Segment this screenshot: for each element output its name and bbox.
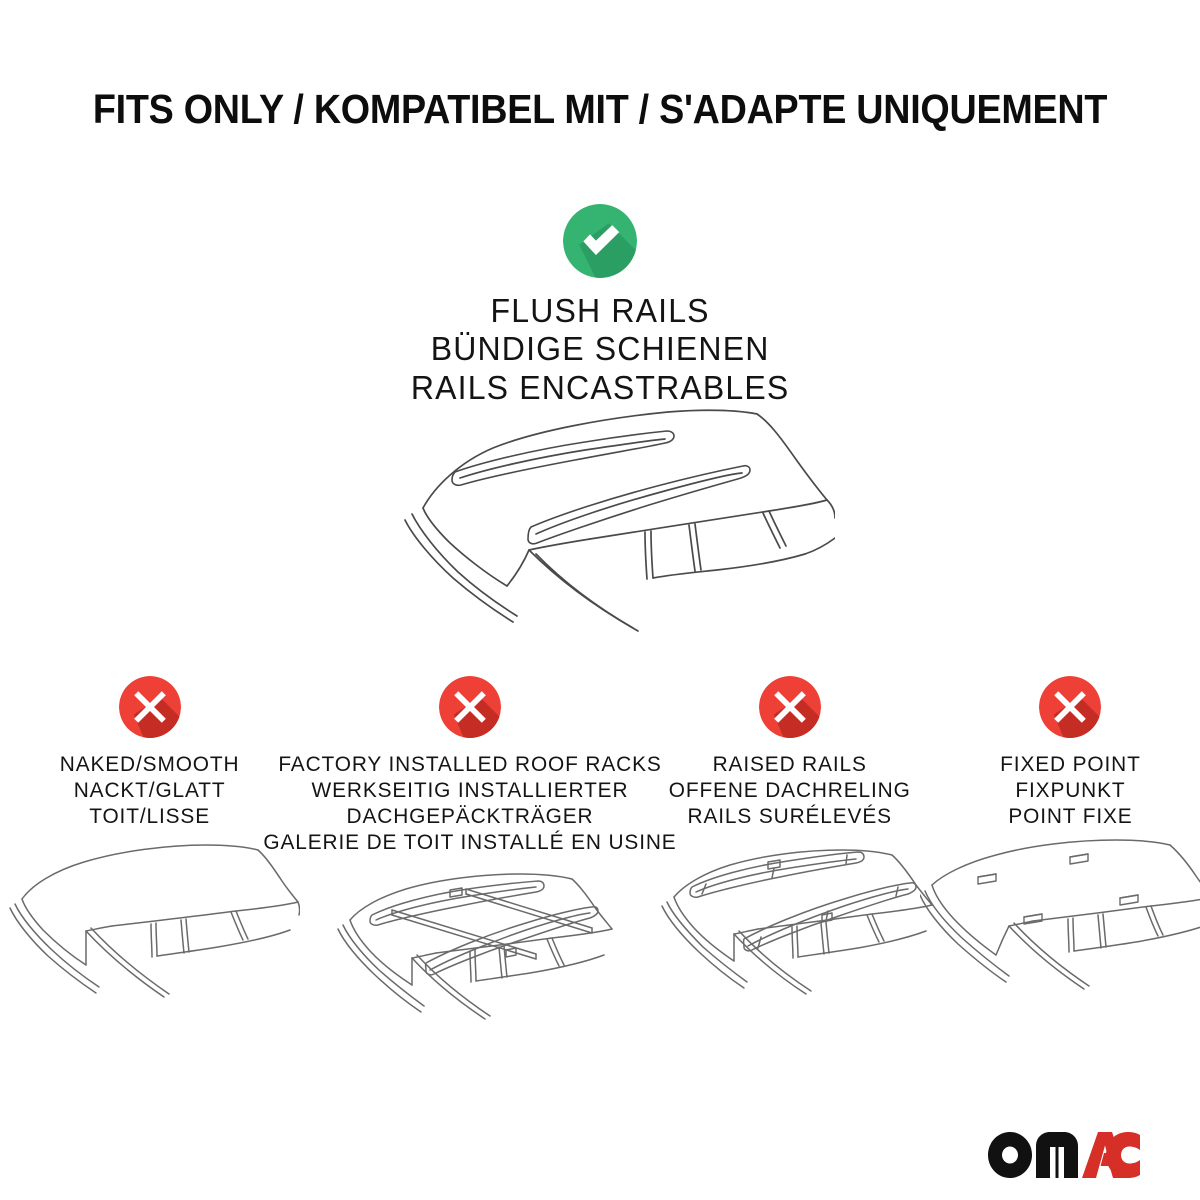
caption-line-fr: TOIT/LISSE xyxy=(60,803,240,829)
compatible-caption: FLUSH RAILS BÜNDIGE SCHIENEN RAILS ENCAS… xyxy=(411,292,790,407)
page-title: FITS ONLY / KOMPATIBEL MIT / S'ADAPTE UN… xyxy=(48,86,1152,133)
incompatible-item-raised-rails: RAISED RAILS OFFENE DACHRELING RAILS SUR… xyxy=(640,676,940,1039)
cross-circle-icon xyxy=(759,676,821,738)
car-roof-with-raised-rails-illustration xyxy=(640,839,940,1039)
car-roof-with-crossbars-illustration xyxy=(320,865,620,1065)
incompatible-item-fixed-point: FIXED POINT FIXPUNKT POINT FIXE xyxy=(940,676,1200,1039)
car-roof-bare-illustration xyxy=(0,839,300,1039)
caption-line-en: FIXED POINT xyxy=(1000,751,1141,777)
cross-circle-icon xyxy=(119,676,181,738)
incompatible-caption: NAKED/SMOOTH NACKT/GLATT TOIT/LISSE xyxy=(60,751,240,829)
incompatible-caption: FIXED POINT FIXPUNKT POINT FIXE xyxy=(1000,751,1141,829)
omac-logo xyxy=(988,1132,1140,1178)
car-roof-with-fixed-points-illustration xyxy=(920,839,1200,1039)
logo-letter-o xyxy=(988,1132,1032,1178)
check-circle-icon xyxy=(563,204,637,278)
incompatible-caption: FACTORY INSTALLED ROOF RACKS WERKSEITIG … xyxy=(263,751,676,855)
incompatible-caption: RAISED RAILS OFFENE DACHRELING RAILS SUR… xyxy=(669,751,911,829)
caption-line-de: OFFENE DACHRELING xyxy=(669,777,911,803)
cross-circle-icon xyxy=(1039,676,1101,738)
compatible-section: FLUSH RAILS BÜNDIGE SCHIENEN RAILS ENCAS… xyxy=(0,204,1200,407)
caption-line-en: NAKED/SMOOTH xyxy=(60,751,240,777)
incompatible-section: NAKED/SMOOTH NACKT/GLATT TOIT/LISSE xyxy=(0,676,1200,1065)
caption-line-de-1: WERKSEITIG INSTALLIERTER xyxy=(263,777,676,803)
incompatible-item-factory-installed-roof-racks: FACTORY INSTALLED ROOF RACKS WERKSEITIG … xyxy=(300,676,640,1065)
caption-line-en: RAISED RAILS xyxy=(669,751,911,777)
caption-line-de: FIXPUNKT xyxy=(1000,777,1141,803)
incompatible-item-naked-smooth: NAKED/SMOOTH NACKT/GLATT TOIT/LISSE xyxy=(0,676,300,1039)
compatible-line-en: FLUSH RAILS xyxy=(411,292,790,330)
cross-circle-icon xyxy=(439,676,501,738)
caption-line-de-2: DACHGEPÄCKTRÄGER xyxy=(263,803,676,829)
car-roof-with-flush-rails-illustration xyxy=(365,400,835,635)
caption-line-de: NACKT/GLATT xyxy=(60,777,240,803)
caption-line-fr: GALERIE DE TOIT INSTALLÉ EN USINE xyxy=(263,829,676,855)
logo-letter-m xyxy=(1036,1132,1078,1178)
caption-line-fr: RAILS SURÉLEVÉS xyxy=(669,803,911,829)
compatible-line-de: BÜNDIGE SCHIENEN xyxy=(411,330,790,368)
caption-line-en: FACTORY INSTALLED ROOF RACKS xyxy=(263,751,676,777)
caption-line-fr: POINT FIXE xyxy=(1000,803,1141,829)
